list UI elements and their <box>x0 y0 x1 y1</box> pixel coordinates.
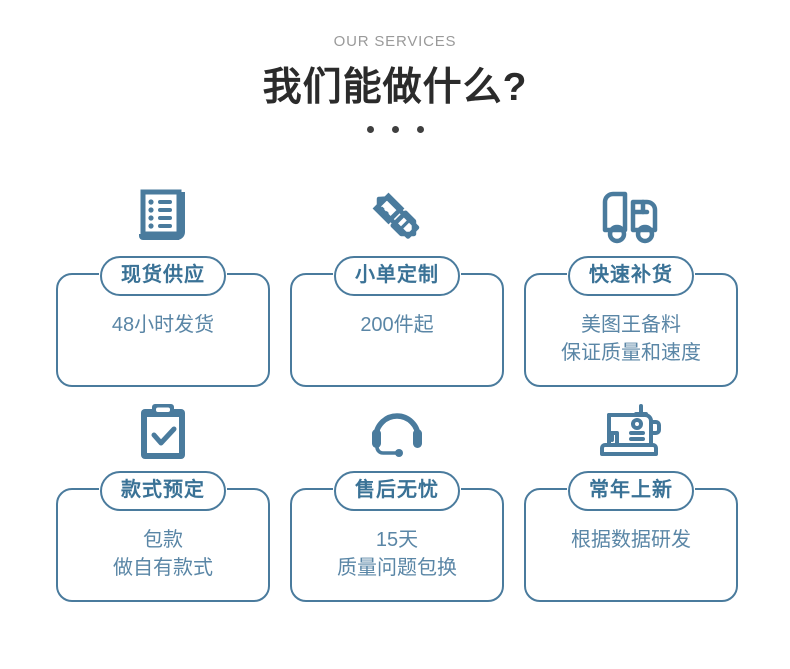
section-header: OUR SERVICES 我们能做什么? <box>0 0 790 133</box>
card-line: 15天 <box>300 526 494 554</box>
services-section: OUR SERVICES 我们能做什么? <box>0 0 790 669</box>
card-body: 48小时发货 <box>66 311 260 339</box>
page-title: 我们能做什么? <box>0 67 790 110</box>
card-body: 200件起 <box>300 311 494 339</box>
card-badge[interactable]: 常年上新 <box>568 471 694 511</box>
card-line: 做自有款式 <box>66 554 260 582</box>
card-body: 美图王备料 保证质量和速度 <box>534 311 728 368</box>
headset-icon <box>286 395 508 469</box>
card-line: 美图王备料 <box>534 311 728 339</box>
card-badge[interactable]: 快速补货 <box>568 256 694 296</box>
service-card[interactable]: 根据数据研发 常年上新 <box>520 395 742 610</box>
dot-divider <box>0 126 790 133</box>
scroll-list-icon <box>52 180 274 254</box>
service-card[interactable]: 48小时发货 现货供应 <box>52 180 274 395</box>
divider-dot-icon <box>367 126 374 133</box>
card-body: 包款 做自有款式 <box>66 526 260 583</box>
card-line: 根据数据研发 <box>534 526 728 554</box>
divider-dot-icon <box>392 126 399 133</box>
card-body: 15天 质量问题包换 <box>300 526 494 583</box>
divider-dot-icon <box>417 126 424 133</box>
pencil-ruler-icon <box>286 180 508 254</box>
card-badge[interactable]: 款式预定 <box>100 471 226 511</box>
service-card[interactable]: 包款 做自有款式 款式预定 <box>52 395 274 610</box>
card-badge[interactable]: 现货供应 <box>100 256 226 296</box>
card-line: 包款 <box>66 526 260 554</box>
delivery-truck-icon <box>520 180 742 254</box>
card-line: 质量问题包换 <box>300 554 494 582</box>
card-body: 根据数据研发 <box>534 526 728 554</box>
clipboard-check-icon <box>52 395 274 469</box>
service-card[interactable]: 美图王备料 保证质量和速度 快速补货 <box>520 180 742 395</box>
service-card[interactable]: 200件起 小单定制 <box>286 180 508 395</box>
sewing-machine-icon <box>520 395 742 469</box>
card-line: 48小时发货 <box>66 311 260 339</box>
card-badge[interactable]: 售后无忧 <box>334 471 460 511</box>
service-card-grid: 48小时发货 现货供应 <box>52 180 742 610</box>
card-line: 200件起 <box>300 311 494 339</box>
service-card[interactable]: 15天 质量问题包换 售后无忧 <box>286 395 508 610</box>
section-eyebrow: OUR SERVICES <box>0 34 790 49</box>
card-badge[interactable]: 小单定制 <box>334 256 460 296</box>
card-line: 保证质量和速度 <box>534 339 728 367</box>
